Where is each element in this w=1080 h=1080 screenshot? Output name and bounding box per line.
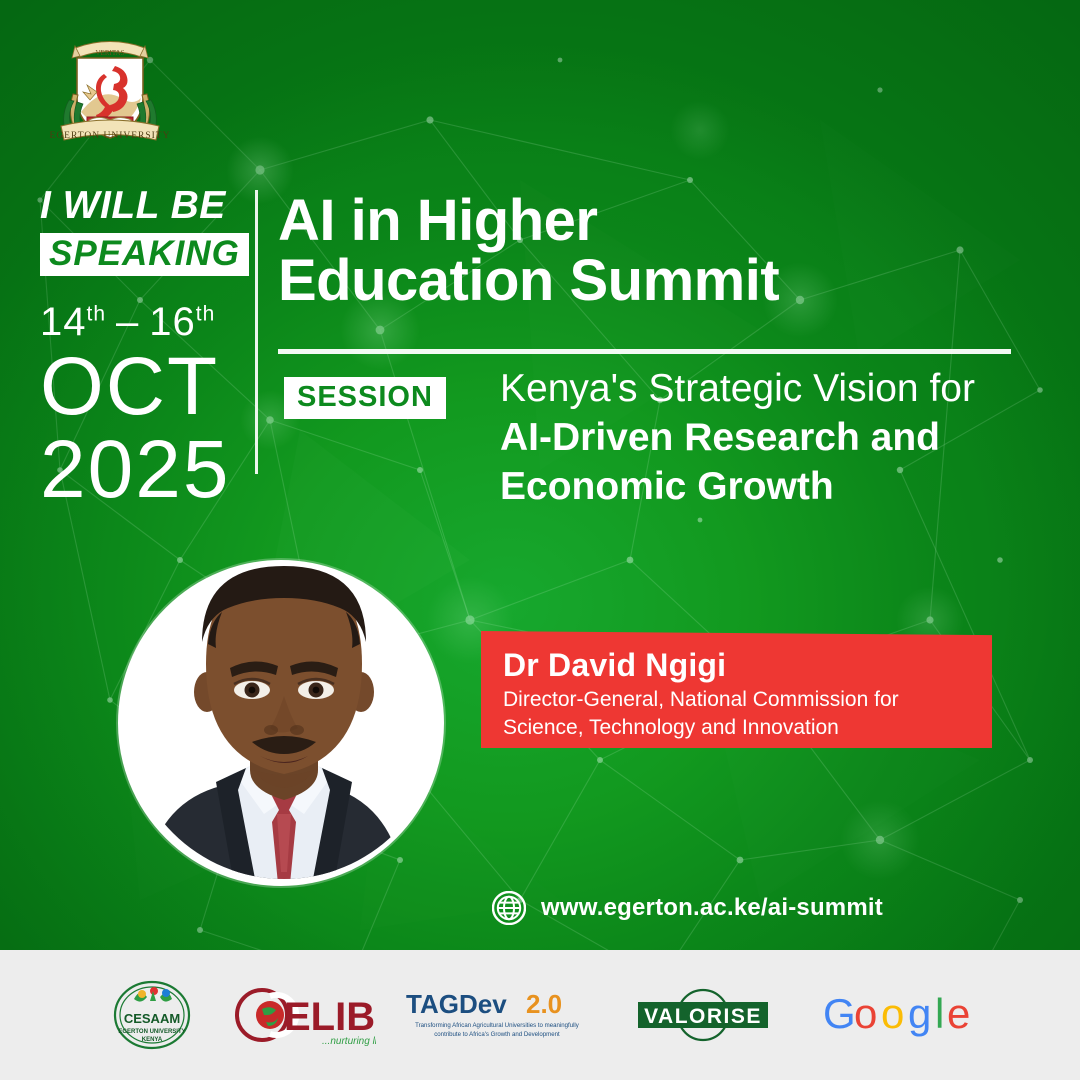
announcement-date-block: I WILL BE SPEAKING 14th–16th OCT 2025 <box>40 186 255 511</box>
tagdev-logo: TAGDev 2.0 Transforming African Agricult… <box>402 987 592 1043</box>
website-url-text: www.egerton.ac.ke/ai-summit <box>541 894 883 922</box>
horizontal-divider <box>278 349 1011 354</box>
svg-text:VERITAS: VERITAS <box>96 49 125 57</box>
day-end-suffix: th <box>196 303 216 326</box>
session-badge-label: SESSION <box>297 383 433 412</box>
egerton-university-crest-icon: VERITAS EGERTON UNIVERSITY <box>47 22 173 147</box>
day-start-suffix: th <box>87 303 107 326</box>
session-badge: SESSION <box>284 377 446 419</box>
announcement-line-2: SPEAKING <box>49 236 240 271</box>
website-link[interactable]: www.egerton.ac.ke/ai-summit <box>492 891 883 925</box>
svg-text:o: o <box>854 990 877 1037</box>
speaker-announcement-poster: VERITAS EGERTON UNIVERSITY I W <box>0 0 1080 1080</box>
event-year: 2025 <box>40 429 255 511</box>
vertical-divider <box>255 190 258 474</box>
speaker-role-line-1: Director-General, National Commission fo… <box>503 686 983 714</box>
cesaam-sub1: EGERTON UNIVERSITY <box>118 1029 185 1035</box>
elib-tagline: ...nurturing life <box>322 1036 376 1047</box>
svg-text:o: o <box>881 990 904 1037</box>
tagdev-sub2: contribute to Africa's Growth and Develo… <box>434 1031 560 1038</box>
tagdev-version: 2.0 <box>526 989 562 1019</box>
speaker-portrait-illustration <box>104 504 464 884</box>
speaker-photo-clip <box>124 566 438 880</box>
tagdev-sub1: Transforming African Agricultural Univer… <box>415 1022 580 1029</box>
speaker-details: Dr David Ngigi Director-General, Nationa… <box>503 648 983 742</box>
svg-text:l: l <box>935 990 944 1037</box>
event-date-range: 14th–16th <box>40 302 255 342</box>
session-title-bold: AI-Driven Research and Economic Growth <box>500 416 940 508</box>
event-title-line-1: AI in Higher <box>278 191 1018 251</box>
session-title: Kenya's Strategic Vision for AI-Driven R… <box>500 365 1020 511</box>
event-month: OCT <box>40 348 255 427</box>
speaking-highlight: SPEAKING <box>40 233 249 276</box>
speaker-role: Director-General, National Commission fo… <box>503 686 983 741</box>
elib-logo: ELIB ...nurturing life <box>226 982 376 1048</box>
elib-title: ELIB <box>284 995 375 1039</box>
date-dash: – <box>116 300 139 344</box>
valorise-logo: VALORISE <box>626 985 781 1045</box>
event-title-line-2: Education Summit <box>278 251 1018 311</box>
cesaam-title: CESAAM <box>124 1011 180 1026</box>
google-logo: G o o g l e <box>823 990 978 1040</box>
svg-text:G: G <box>823 990 856 1037</box>
globe-icon <box>492 891 526 925</box>
partner-logos-bar: CESAAM EGERTON UNIVERSITY KENYA ELIB ...… <box>0 950 1080 1080</box>
speaker-photo <box>105 505 467 885</box>
tagdev-title: TAGDev <box>406 989 507 1019</box>
day-end: 16 <box>149 300 196 344</box>
svg-text:EGERTON UNIVERSITY: EGERTON UNIVERSITY <box>50 131 171 141</box>
day-start: 14 <box>40 300 87 344</box>
speaker-role-line-2: Science, Technology and Innovation <box>503 714 983 742</box>
announcement-line-1: I WILL BE <box>40 186 255 225</box>
speaker-name: Dr David Ngigi <box>503 648 983 683</box>
svg-text:g: g <box>908 990 931 1037</box>
svg-text:e: e <box>947 990 970 1037</box>
cesaam-sub2: KENYA <box>142 1037 163 1043</box>
event-title: AI in Higher Education Summit <box>278 191 1018 312</box>
valorise-title: VALORISE <box>644 1005 762 1028</box>
cesaam-logo: CESAAM EGERTON UNIVERSITY KENYA <box>102 979 202 1051</box>
session-title-normal: Kenya's Strategic Vision for <box>500 367 975 410</box>
